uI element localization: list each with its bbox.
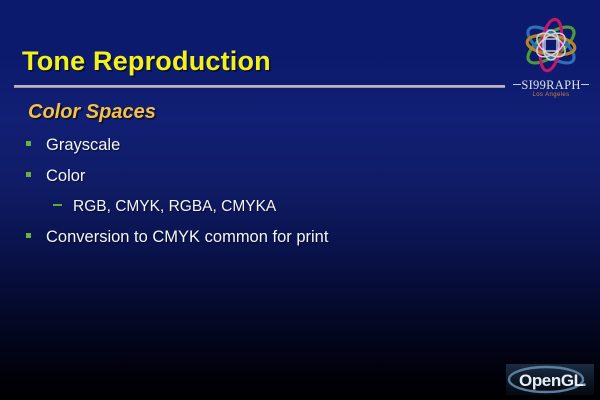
list-item: Conversion to CMYK common for print: [26, 228, 546, 247]
siggraph-rings-icon: [505, 12, 597, 78]
siggraph-city-label: Los Angeles: [505, 92, 597, 98]
wordmark-text: SI99RAPH: [521, 78, 580, 92]
list-item: Color: [26, 167, 546, 186]
dash-bullet-icon: [53, 204, 62, 206]
list-item: Grayscale: [26, 136, 546, 155]
sub-list-item-label: RGB, CMYK, RGBA, CMYKA: [73, 198, 276, 216]
svg-text:.: .: [582, 371, 587, 390]
slide-canvas: Tone Reproduction Color Spaces Grayscale…: [0, 0, 600, 400]
svg-text:OpenGL: OpenGL: [519, 371, 584, 390]
bullet-list: Grayscale Color RGB, CMYK, RGBA, CMYKA C…: [26, 136, 546, 259]
square-bullet-icon: [26, 233, 31, 238]
list-item-label: Color: [46, 167, 85, 186]
opengl-logo: OpenGL .: [506, 364, 594, 395]
list-item-label: Grayscale: [46, 136, 120, 155]
slide-title: Tone Reproduction: [22, 46, 271, 77]
slide-subtitle: Color Spaces: [28, 101, 156, 124]
square-bullet-icon: [26, 141, 31, 146]
siggraph-wordmark: SI99RAPH: [505, 78, 597, 93]
wordmark-dash-right: [581, 84, 589, 86]
siggraph-logo: SI99RAPH Los Angeles: [505, 12, 597, 106]
sub-list-item: RGB, CMYK, RGBA, CMYKA: [26, 198, 546, 216]
list-item-label: Conversion to CMYK common for print: [46, 228, 328, 247]
opengl-logo-icon: OpenGL .: [506, 364, 594, 395]
title-divider-rule: [14, 85, 505, 88]
square-bullet-icon: [26, 172, 31, 177]
